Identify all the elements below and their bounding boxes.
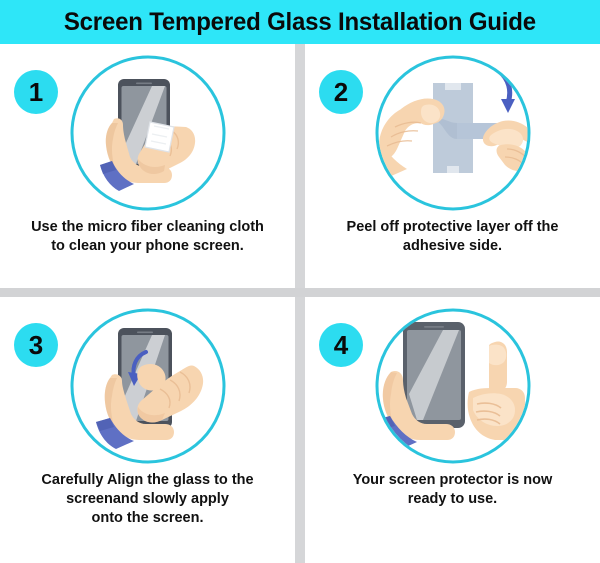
installation-guide-infographic: Screen Tempered Glass Installation Guide… [0, 0, 600, 563]
step-3-illustration [68, 306, 228, 466]
divider-vertical [295, 44, 305, 563]
step-1-badge: 1 [14, 70, 58, 114]
step-4-badge: 4 [319, 323, 363, 367]
header-banner: Screen Tempered Glass Installation Guide [0, 0, 600, 44]
step-3-caption-line-2: screenand slowly apply [8, 490, 287, 509]
step-3-number: 3 [29, 332, 43, 358]
step-3-caption-line-3: onto the screen. [8, 509, 287, 528]
step-1-number: 1 [29, 79, 43, 105]
step-1-illustration [68, 53, 228, 213]
step-3-badge: 3 [14, 323, 58, 367]
step-4-caption: Your screen protector is now ready to us… [313, 471, 592, 509]
step-4-illustration [373, 306, 533, 466]
step-2-illustration [373, 53, 533, 213]
step-2-number: 2 [334, 79, 348, 105]
step-3-caption: Carefully Align the glass to the screena… [8, 471, 287, 528]
step-3-caption-line-1: Carefully Align the glass to the [8, 471, 287, 490]
step-4-number: 4 [334, 332, 348, 358]
page-title: Screen Tempered Glass Installation Guide [64, 10, 536, 35]
step-panel-1: 1 [0, 44, 295, 288]
step-1-caption: Use the micro fiber cleaning cloth to cl… [8, 218, 287, 256]
step-panel-3: 3 [0, 297, 295, 563]
step-1-caption-line-2: to clean your phone screen. [8, 237, 287, 256]
step-2-badge: 2 [319, 70, 363, 114]
step-2-caption: Peel off protective layer off the adhesi… [313, 218, 592, 256]
step-2-caption-line-1: Peel off protective layer off the [313, 218, 592, 237]
step-panel-2: 2 [305, 44, 600, 288]
steps-grid: 1 [0, 44, 600, 563]
step-4-caption-line-2: ready to use. [313, 490, 592, 509]
step-2-caption-line-2: adhesive side. [313, 237, 592, 256]
step-4-caption-line-1: Your screen protector is now [313, 471, 592, 490]
divider-horizontal [0, 288, 600, 297]
step-panel-4: 4 [305, 297, 600, 563]
step-1-caption-line-1: Use the micro fiber cleaning cloth [8, 218, 287, 237]
